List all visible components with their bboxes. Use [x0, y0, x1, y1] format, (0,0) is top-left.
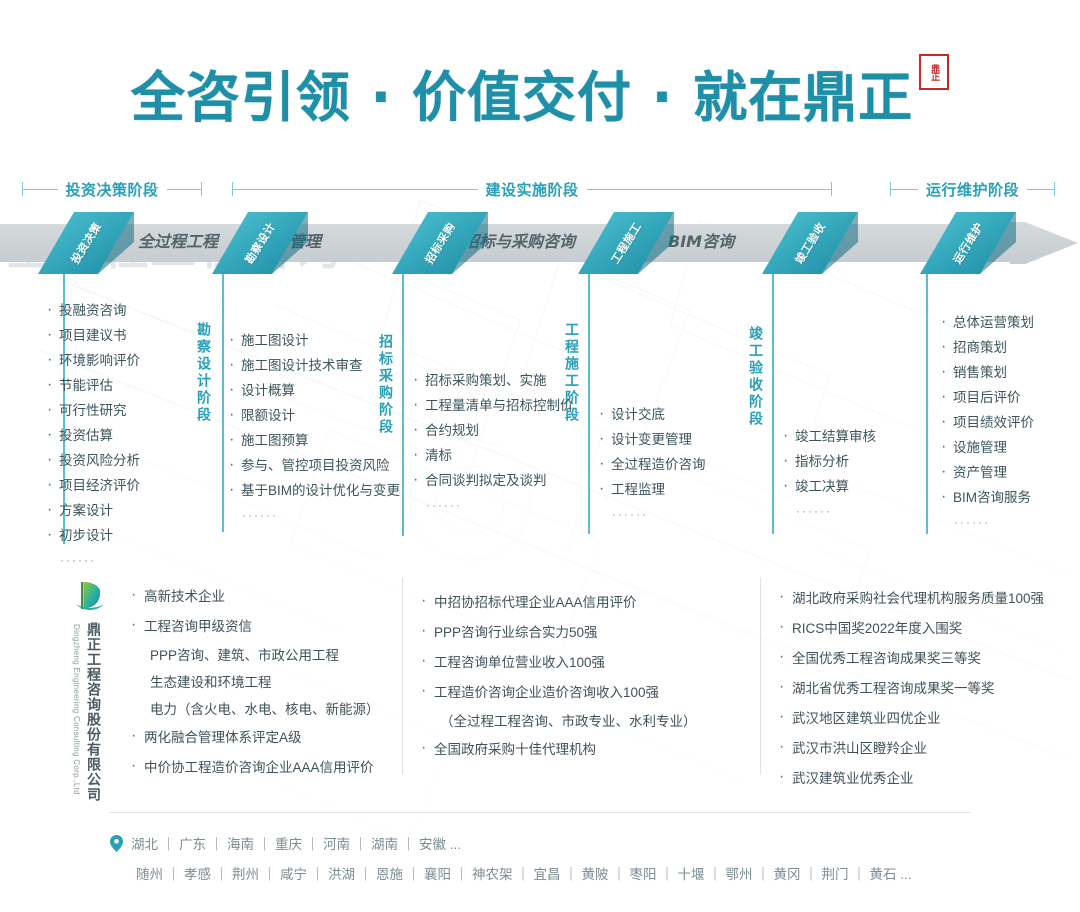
- qualification-text: 武汉市洪山区瞪羚企业: [792, 741, 927, 756]
- service-item: 设计概算: [228, 378, 400, 403]
- location-pin-icon: [110, 835, 123, 852]
- service-item: 设计交底: [598, 402, 706, 427]
- qualification-subtext: 电力（含火电、水电、核电、新能源）: [144, 696, 380, 723]
- bracket-rule-left: [891, 189, 918, 190]
- bracket-tick-right: [1054, 182, 1055, 196]
- bracket-rule-left: [23, 189, 58, 190]
- band-segment-title-0: 全过程工程: [138, 228, 218, 252]
- footer-row-cities: 随州 ｜ 孝感 ｜ 荆州 ｜ 咸宁 ｜ 洪湖 ｜ 恩施 ｜ 襄阳 ｜ 神农架 ｜…: [110, 858, 1050, 888]
- qualification-item: 全国优秀工程咨询成果奖三等奖: [778, 644, 1044, 674]
- phase-header-construction: 建设实施阶段: [232, 176, 832, 202]
- qual-divider-1: [402, 578, 403, 774]
- qualification-text: 武汉建筑业优秀企业: [792, 771, 914, 786]
- qualification-text: RICS中国奖2022年度入围奖: [792, 621, 962, 636]
- service-list: 招标采购策划、实施 工程量清单与招标控制价 合约规划 清标 合同谈判拟定及谈判 …: [412, 368, 574, 518]
- qualification-item: 高新技术企业: [130, 582, 380, 612]
- qualification-text: 全国政府采购十佳代理机构: [434, 742, 596, 757]
- footer-locations: 湖北 ｜ 广东 ｜ 海南 ｜ 重庆 ｜ 河南 ｜ 湖南 ｜ 安徽 ... 随州 …: [110, 828, 1050, 888]
- qualification-text: 湖北政府采购社会代理机构服务质量100强: [792, 591, 1044, 606]
- service-item: 工程量清单与招标控制价: [412, 393, 574, 418]
- bracket-tick-right: [201, 182, 202, 196]
- qualification-text: 工程咨询甲级资信: [144, 619, 252, 634]
- qualification-item: 武汉建筑业优秀企业: [778, 764, 1044, 794]
- qualifications-area: 高新技术企业 工程咨询甲级资信 PPP咨询、建筑、市政公用工程 生态建设和环境工…: [0, 570, 1080, 800]
- service-item: 施工图预算: [228, 428, 400, 453]
- phase-header-operation: 运行维护阶段: [890, 176, 1055, 202]
- service-column-investment: 投融资咨询 项目建议书 环境影响评价 节能评估 可行性研究 投资估算 投资风险分…: [46, 298, 140, 573]
- stem-connector-1: [222, 272, 224, 532]
- ribbon-shape: [578, 212, 674, 274]
- qualification-item: 湖北省优秀工程咨询成果奖一等奖: [778, 674, 1044, 704]
- qualification-text: 中价协工程造价咨询企业AAA信用评价: [144, 760, 374, 775]
- service-list: 施工图设计 施工图设计技术审查 设计概算 限额设计 施工图预算 参与、管控项目投…: [228, 328, 400, 528]
- qualification-subtext: 生态建设和环境工程: [144, 669, 380, 696]
- phase-label: 建设实施阶段: [478, 179, 587, 200]
- service-item: 方案设计: [46, 498, 140, 523]
- service-item: 投资估算: [46, 423, 140, 448]
- service-item: 施工图设计: [228, 328, 400, 353]
- service-item: 设计变更管理: [598, 427, 706, 452]
- bracket-tick-right: [831, 182, 832, 196]
- city-list: 随州 ｜ 孝感 ｜ 荆州 ｜ 咸宁 ｜ 洪湖 ｜ 恩施 ｜ 襄阳 ｜ 神农架 ｜…: [136, 863, 912, 883]
- qualification-text: 高新技术企业: [144, 589, 225, 604]
- service-item: BIM咨询服务: [940, 485, 1034, 510]
- qualification-item: 全国政府采购十佳代理机构: [420, 735, 697, 765]
- qualification-subtext: （全过程工程咨询、市政专业、水利专业）: [434, 708, 697, 735]
- column-vertical-label-survey-design: 勘察设计阶段: [196, 322, 210, 424]
- ribbon-shape: [212, 212, 308, 274]
- service-list: 竣工结算审核 指标分析 竣工决算 ······: [782, 424, 876, 524]
- service-item: 总体运营策划: [940, 310, 1034, 335]
- qualification-text: 全国优秀工程咨询成果奖三等奖: [792, 651, 981, 666]
- service-item: 合约规划: [412, 418, 574, 443]
- service-item: 施工图设计技术审查: [228, 353, 400, 378]
- service-column-bidding: 招标采购策划、实施 工程量清单与招标控制价 合约规划 清标 合同谈判拟定及谈判 …: [412, 368, 574, 518]
- ribbon-shape: [38, 212, 134, 274]
- qualification-text: 武汉地区建筑业四优企业: [792, 711, 941, 726]
- service-ellipsis: ······: [228, 503, 400, 528]
- service-list: 总体运营策划 招商策划 销售策划 项目后评价 项目绩效评价 设施管理 资产管理 …: [940, 310, 1034, 535]
- service-item: 工程监理: [598, 477, 706, 502]
- qualification-item: RICS中国奖2022年度入围奖: [778, 614, 1044, 644]
- column-vertical-label-completion: 竣工验收阶段: [748, 326, 762, 428]
- service-item: 限额设计: [228, 403, 400, 428]
- service-item: 项目经济评价: [46, 473, 140, 498]
- service-item: 初步设计: [46, 523, 140, 548]
- qualification-text: 湖北省优秀工程咨询成果奖一等奖: [792, 681, 995, 696]
- ribbon-tab-investment[interactable]: 投资决策: [38, 212, 134, 274]
- service-column-construction: 设计交底 设计变更管理 全过程造价咨询 工程监理 ······: [598, 402, 706, 527]
- ribbon-tab-survey-design[interactable]: 勘察设计: [212, 212, 308, 274]
- bracket-rule-right: [1027, 189, 1054, 190]
- ribbon-shape: [920, 212, 1016, 274]
- qual-divider-2: [760, 578, 761, 774]
- qualification-text: 工程咨询单位营业收入100强: [434, 655, 605, 670]
- title-text: 全咨引领 · 价值交付 · 就在鼎正: [131, 53, 913, 132]
- service-item: 投资风险分析: [46, 448, 140, 473]
- qualification-item: 中招协招标代理企业AAA信用评价: [420, 588, 697, 618]
- phase-label: 投资决策阶段: [58, 179, 167, 200]
- qualification-item: 工程造价咨询企业造价咨询收入100强 （全过程工程咨询、市政专业、水利专业）: [420, 678, 697, 735]
- qualification-item: 中价协工程造价咨询企业AAA信用评价: [130, 753, 380, 783]
- page-title: 全咨引领 · 价值交付 · 就在鼎正 鼎正: [0, 52, 1080, 132]
- service-item: 销售策划: [940, 360, 1034, 385]
- service-item: 合同谈判拟定及谈判: [412, 468, 574, 493]
- band-segment-title-3: BIM咨询: [668, 228, 734, 252]
- service-item: 资产管理: [940, 460, 1034, 485]
- service-item: 招商策划: [940, 335, 1034, 360]
- bracket-rule-right: [167, 189, 202, 190]
- service-item: 项目后评价: [940, 385, 1034, 410]
- qualification-item: 两化融合管理体系评定A级: [130, 723, 380, 753]
- service-item: 竣工结算审核: [782, 424, 876, 449]
- service-ellipsis: ······: [940, 510, 1034, 535]
- qualification-item: 工程咨询甲级资信 PPP咨询、建筑、市政公用工程 生态建设和环境工程 电力（含火…: [130, 612, 380, 723]
- bracket-rule-right: [587, 189, 832, 190]
- phase-header-investment: 投资决策阶段: [22, 176, 202, 202]
- qualification-item: 湖北政府采购社会代理机构服务质量100强: [778, 584, 1044, 614]
- qualification-item: 武汉市洪山区瞪羚企业: [778, 734, 1044, 764]
- service-ellipsis: ······: [782, 499, 876, 524]
- service-item: 项目绩效评价: [940, 410, 1034, 435]
- ribbon-tab-construction[interactable]: 工程施工: [578, 212, 674, 274]
- qualification-text: 中招协招标代理企业AAA信用评价: [434, 595, 637, 610]
- qualification-text: 两化融合管理体系评定A级: [144, 730, 302, 745]
- footer-row-provinces: 湖北 ｜ 广东 ｜ 海南 ｜ 重庆 ｜ 河南 ｜ 湖南 ｜ 安徽 ...: [110, 828, 1050, 858]
- stem-connector-3: [588, 272, 590, 534]
- ribbon-tab-completion-acceptance[interactable]: 竣工验收: [762, 212, 858, 274]
- service-item: 招标采购策划、实施: [412, 368, 574, 393]
- province-list: 湖北 ｜ 广东 ｜ 海南 ｜ 重庆 ｜ 河南 ｜ 湖南 ｜ 安徽 ...: [131, 833, 461, 853]
- qualification-item: PPP咨询行业综合实力50强: [420, 618, 697, 648]
- qualification-item: 武汉地区建筑业四优企业: [778, 704, 1044, 734]
- service-item: 参与、管控项目投资风险: [228, 453, 400, 478]
- qualification-list: 高新技术企业 工程咨询甲级资信 PPP咨询、建筑、市政公用工程 生态建设和环境工…: [130, 582, 380, 783]
- qualification-item: 工程咨询单位营业收入100强: [420, 648, 697, 678]
- qualification-list: 湖北政府采购社会代理机构服务质量100强 RICS中国奖2022年度入围奖 全国…: [778, 584, 1044, 794]
- service-item: 全过程造价咨询: [598, 452, 706, 477]
- service-item: 基于BIM的设计优化与变更: [228, 478, 400, 503]
- ribbon-shape: [762, 212, 858, 274]
- service-column-survey-design: 施工图设计 施工图设计技术审查 设计概算 限额设计 施工图预算 参与、管控项目投…: [228, 328, 400, 528]
- qualification-list: 中招协招标代理企业AAA信用评价 PPP咨询行业综合实力50强 工程咨询单位营业…: [420, 588, 697, 765]
- ribbon-shape: [392, 212, 488, 274]
- ribbon-tab-operation-maintenance[interactable]: 运行维护: [920, 212, 1016, 274]
- service-item: 投融资咨询: [46, 298, 140, 323]
- stem-connector-5: [926, 272, 928, 534]
- service-list: 设计交底 设计变更管理 全过程造价咨询 工程监理 ······: [598, 402, 706, 527]
- service-item: 环境影响评价: [46, 348, 140, 373]
- seal-stamp-icon: 鼎正: [919, 54, 949, 90]
- qualification-subtext: PPP咨询、建筑、市政公用工程: [144, 642, 380, 669]
- bracket-rule-left: [233, 189, 478, 190]
- stem-connector-4: [772, 272, 774, 534]
- qualification-text: 工程造价咨询企业造价咨询收入100强: [434, 685, 659, 700]
- service-item: 竣工决算: [782, 474, 876, 499]
- service-item: 清标: [412, 443, 574, 468]
- qualification-column-right: 湖北政府采购社会代理机构服务质量100强 RICS中国奖2022年度入围奖 全国…: [778, 584, 1044, 794]
- service-item: 节能评估: [46, 373, 140, 398]
- service-column-completion: 竣工结算审核 指标分析 竣工决算 ······: [782, 424, 876, 524]
- service-item: 指标分析: [782, 449, 876, 474]
- qualification-column-left: 高新技术企业 工程咨询甲级资信 PPP咨询、建筑、市政公用工程 生态建设和环境工…: [130, 582, 380, 783]
- phase-label: 运行维护阶段: [918, 179, 1027, 200]
- stem-connector-2: [402, 272, 404, 536]
- service-item: 可行性研究: [46, 398, 140, 423]
- qualification-column-middle: 中招协招标代理企业AAA信用评价 PPP咨询行业综合实力50强 工程咨询单位营业…: [420, 588, 697, 765]
- service-item: 设施管理: [940, 435, 1034, 460]
- service-ellipsis: ······: [598, 502, 706, 527]
- service-list: 投融资咨询 项目建议书 环境影响评价 节能评估 可行性研究 投资估算 投资风险分…: [46, 298, 140, 573]
- qualification-text: PPP咨询行业综合实力50强: [434, 625, 598, 640]
- service-item: 项目建议书: [46, 323, 140, 348]
- ribbon-tab-bidding-procurement[interactable]: 招标采购: [392, 212, 488, 274]
- service-column-operation: 总体运营策划 招商策划 销售策划 项目后评价 项目绩效评价 设施管理 资产管理 …: [940, 310, 1034, 535]
- service-ellipsis: ······: [412, 493, 574, 518]
- footer-divider: [110, 812, 970, 813]
